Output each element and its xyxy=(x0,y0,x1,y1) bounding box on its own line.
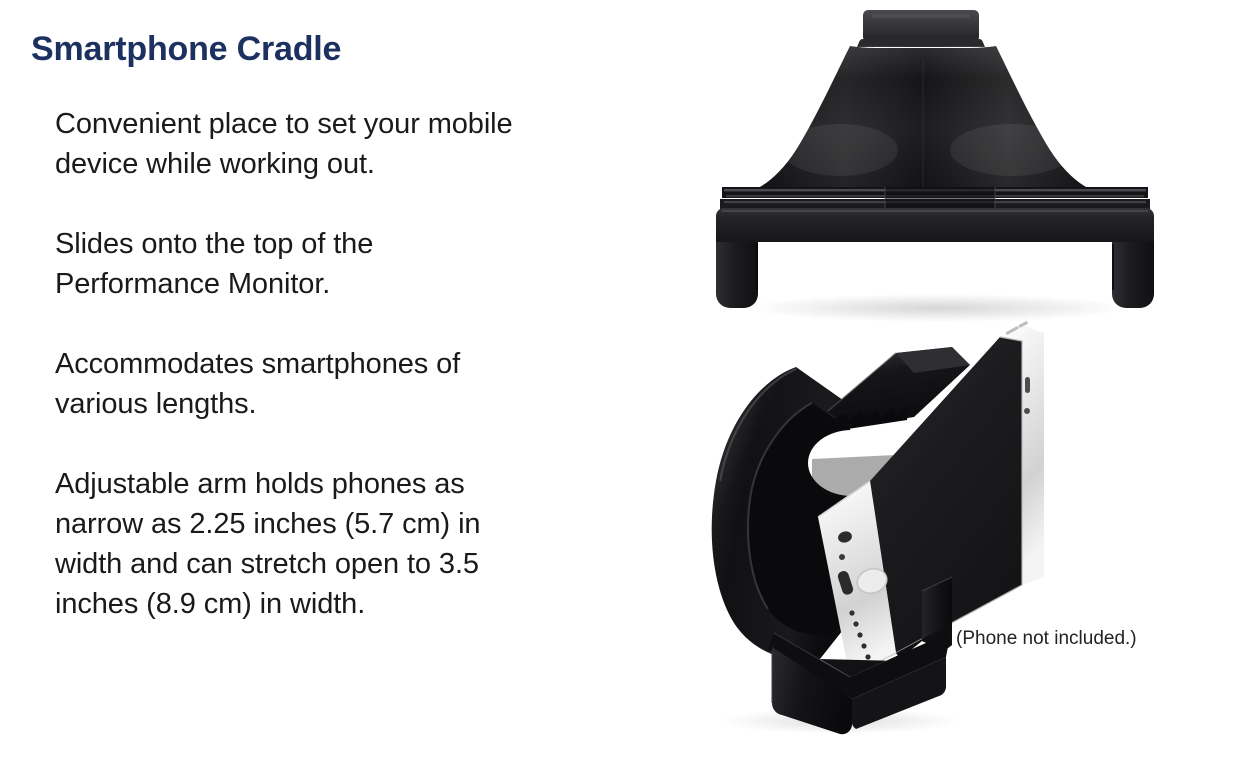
feature-list: Convenient place to set your mobile devi… xyxy=(55,104,640,624)
product-feature-slide: Smartphone Cradle Convenient place to se… xyxy=(0,0,1250,760)
image-column: (Phone not included.) xyxy=(660,0,1250,760)
cradle-front-view-illustration xyxy=(700,0,1170,320)
feature-item-slides-onto-top: Slides onto the top of the Performance M… xyxy=(55,224,640,304)
feature-line: Slides onto the top of the xyxy=(55,224,640,264)
feature-line: inches (8.9 cm) in width. xyxy=(55,584,640,624)
text-column: Smartphone Cradle Convenient place to se… xyxy=(0,0,660,760)
ridge-band xyxy=(720,187,1150,209)
feature-line: narrow as 2.25 inches (5.7 cm) in xyxy=(55,504,640,544)
earpiece-speaker-icon xyxy=(1025,377,1030,393)
mounting-tab xyxy=(857,10,985,47)
feature-item-adjustable-arm: Adjustable arm holds phones as narrow as… xyxy=(55,464,640,624)
cradle-front-view-photo xyxy=(700,0,1170,320)
cradle-with-phone-photo xyxy=(700,285,1100,735)
feature-item-convenient-place: Convenient place to set your mobile devi… xyxy=(55,104,640,184)
feature-line: device while working out. xyxy=(55,144,640,184)
microphone-hole-icon xyxy=(839,554,845,560)
cradle-with-phone-illustration xyxy=(700,285,1100,735)
feature-line: Performance Monitor. xyxy=(55,264,640,304)
cradle-leg-right xyxy=(1112,242,1154,308)
feature-line: various lengths. xyxy=(55,384,640,424)
cradle-body xyxy=(728,46,1118,196)
feature-item-accommodates-lengths: Accommodates smartphones of various leng… xyxy=(55,344,640,424)
cradle-base xyxy=(716,208,1154,242)
feature-line: Convenient place to set your mobile xyxy=(55,104,640,144)
phone-not-included-caption: (Phone not included.) xyxy=(956,628,1137,650)
feature-line: Accommodates smartphones of xyxy=(55,344,640,384)
feature-line: width and can stretch open to 3.5 xyxy=(55,544,640,584)
front-camera-icon xyxy=(1024,408,1030,414)
page-title: Smartphone Cradle xyxy=(31,30,341,69)
feature-line: Adjustable arm holds phones as xyxy=(55,464,640,504)
